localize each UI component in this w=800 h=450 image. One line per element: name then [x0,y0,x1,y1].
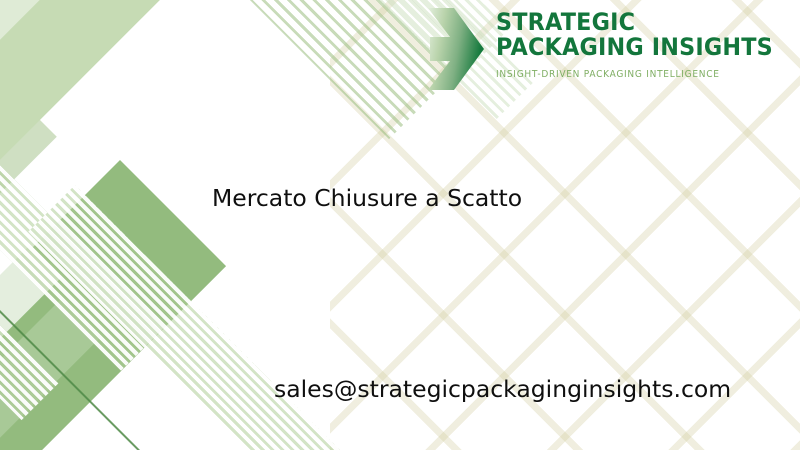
contact-email[interactable]: sales@strategicpackaginginsights.com [274,375,731,403]
decor-band [0,215,25,450]
decor-hairline [0,190,375,450]
chevron-icon [424,6,486,92]
decor-hairline [0,265,332,450]
decor-band [0,245,62,340]
logo-tagline: INSIGHT-DRIVEN PACKAGING INTELLIGENCE [496,69,785,80]
decor-stripes [28,185,372,450]
logo-name-line-1: STRATEGIC [496,10,773,35]
decor-stripes [85,0,454,139]
decor-band [0,0,205,203]
presentation-slide: STRATEGIC PACKAGING INSIGHTS INSIGHT-DRI… [0,0,800,450]
decor-band [0,160,226,450]
decor-band [0,300,99,450]
decor-stripes [0,95,163,371]
logo-wordmark: STRATEGIC PACKAGING INSIGHTS INSIGHT-DRI… [496,6,794,80]
decor-band [0,0,2,318]
slide-title: Mercato Chiusure a Scatto [212,184,522,212]
decor-band [0,0,57,450]
company-logo: STRATEGIC PACKAGING INSIGHTS INSIGHT-DRI… [424,6,764,98]
logo-name-line-2: PACKAGING INSIGHTS [496,35,773,60]
decor-stripes [0,150,58,420]
decor-band [0,0,185,307]
